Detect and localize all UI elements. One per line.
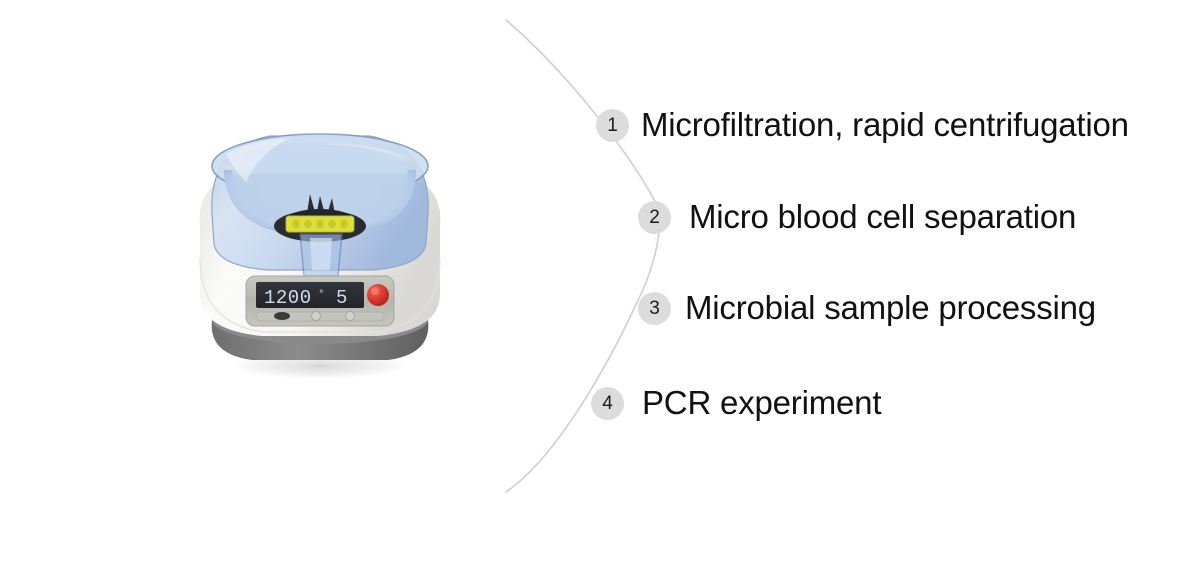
application-page: 1200 ° 5 1 Microfiltration, rapid centri… [0,0,1193,581]
step-badge-3: 3 [638,292,671,325]
tube-well [340,220,348,228]
lcd-speed-value: 1200 [264,287,312,309]
step-label-3: Microbial sample processing [685,289,1096,327]
step-item-4[interactable]: 4 PCR experiment [591,384,881,422]
stop-button-gloss [371,287,379,295]
step-label-2: Micro blood cell separation [689,198,1076,236]
power-button[interactable] [274,312,290,320]
lcd-speed-unit: ° [318,289,325,301]
tube-well [304,220,312,228]
tube-well [292,220,300,228]
speed-button[interactable] [312,312,321,321]
step-badge-4: 4 [591,387,624,420]
tube-well [316,220,324,228]
product-image-centrifuge: 1200 ° 5 [160,108,480,380]
step-item-2[interactable]: 2 Micro blood cell separation [638,198,1076,236]
step-item-1[interactable]: 1 Microfiltration, rapid centrifugation [596,106,1129,144]
step-label-1: Microfiltration, rapid centrifugation [641,106,1129,144]
timer-button[interactable] [346,312,355,321]
step-item-3[interactable]: 3 Microbial sample processing [638,289,1096,327]
stop-button[interactable] [367,284,389,306]
step-badge-2: 2 [638,201,671,234]
step-label-4: PCR experiment [642,384,881,422]
step-badge-1: 1 [596,109,629,142]
lid-latch-highlight [310,238,332,270]
lcd-time-value: 5 [336,287,347,309]
centrifuge-illustration: 1200 ° 5 [160,108,480,380]
tube-well [328,220,336,228]
